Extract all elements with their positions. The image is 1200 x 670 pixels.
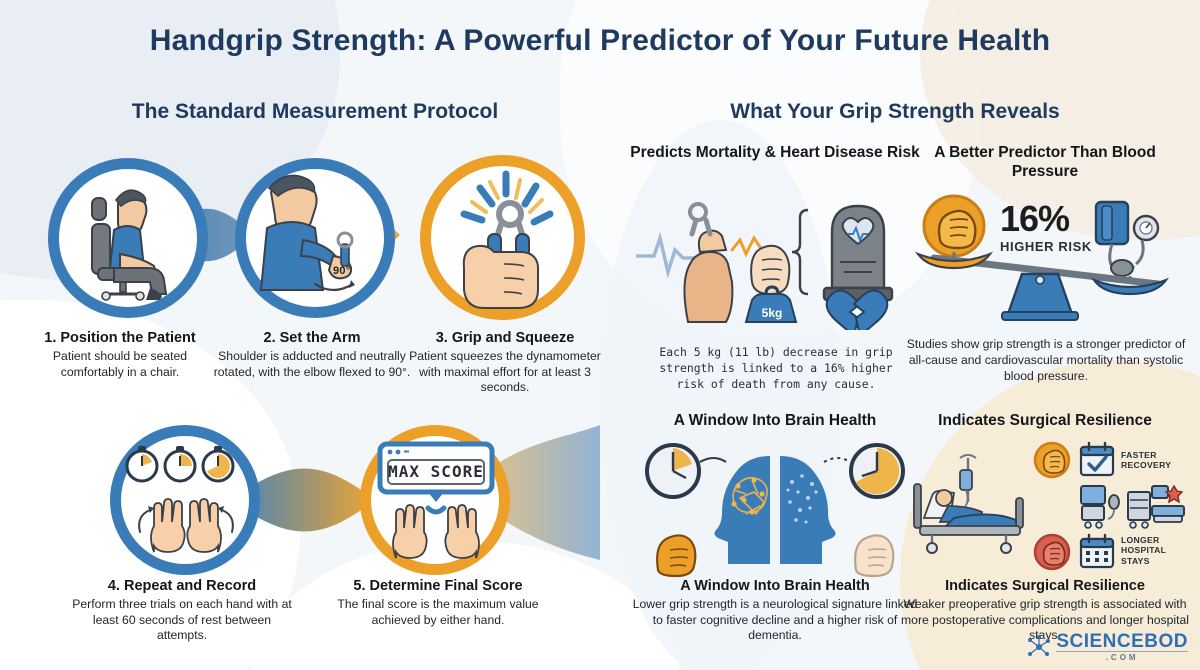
calendar-check-icon: [1078, 440, 1116, 478]
panel-3-title: A Window Into Brain Health: [630, 412, 920, 431]
step-4-body: Perform three trials on each hand with a…: [72, 597, 292, 644]
orange-fist-coin-icon: [1032, 440, 1072, 480]
step-2-body: Shoulder is adducted and neutrally rotat…: [212, 349, 412, 380]
step-5-title: 5. Determine Final Score: [330, 578, 546, 594]
weight-label: 5kg: [762, 306, 783, 320]
panel-1-title: Predicts Mortality & Heart Disease Risk: [630, 144, 920, 163]
max-score-screen-icon: MAX SCORE: [370, 438, 502, 564]
seated-patient-chair-icon: [58, 168, 198, 308]
section-title-protocol: The Standard Measurement Protocol: [30, 100, 600, 124]
panel-3-body: Lower grip strength is a neurological si…: [630, 597, 920, 644]
footer-logo[interactable]: SCIENCEBOD .COM: [1026, 632, 1188, 662]
panel-1-note: Each 5 kg (11 lb) decrease in grip stren…: [636, 344, 916, 393]
note-line-1: Each 5 kg (11 lb) decrease in grip: [659, 345, 892, 359]
section-title-reveals: What Your Grip Strength Reveals: [610, 100, 1180, 124]
step-5-caption: 5. Determine Final Score The final score…: [330, 578, 546, 628]
logo-divider: .COM: [1056, 651, 1188, 662]
note-line-3: risk of death from any cause.: [677, 377, 876, 391]
hospital-bed-patient-icon: [900, 440, 1050, 570]
panel-2-title: A Better Predictor Than Blood Pressure: [900, 144, 1190, 182]
stat-16-percent: 16%: [1000, 198, 1069, 240]
logo-wordmark: SCIENCEBOD: [1056, 632, 1188, 651]
reveal-panel-brain-health: A Window Into Brain Health: [630, 412, 920, 431]
badge-faster-recovery-label: FASTER RECOVERY: [1121, 450, 1191, 471]
step-2-caption: 2. Set the Arm Shoulder is adducted and …: [212, 330, 412, 380]
reveal-panel-surgical-resilience: Indicates Surgical Resilience: [900, 412, 1190, 431]
panel-4-caption-title: Indicates Surgical Resilience: [900, 578, 1190, 594]
arm-position-icon: [245, 168, 385, 308]
step-3-caption: 3. Grip and Squeeze Patient squeezes the…: [400, 330, 610, 396]
calendar-days-icon: [1078, 532, 1116, 570]
note-line-2: strength is linked to a 16% higher: [659, 361, 892, 375]
stopwatches-hands-icon: [124, 440, 248, 562]
stat-higher-risk-label: HIGHER RISK: [1000, 239, 1092, 254]
reveal-panel-mortality: Predicts Mortality & Heart Disease Risk: [630, 144, 920, 163]
step-2-angle-annotation: 90°: [333, 265, 351, 278]
logo-tld: .COM: [1056, 653, 1188, 662]
red-fist-coin-icon: [1032, 532, 1072, 572]
hand-squeeze-dynamometer-icon: [420, 152, 590, 324]
step-5-body: The final score is the maximum value ach…: [330, 597, 546, 628]
panel-3-caption: A Window Into Brain Health Lower grip st…: [630, 578, 920, 644]
step-1-title: 1. Position the Patient: [20, 330, 220, 346]
badge-longer-stays-label: LONGER HOSPITAL STAYS: [1121, 535, 1193, 566]
step-4-caption: 4. Repeat and Record Perform three trial…: [72, 578, 292, 644]
panel-2-body: Studies show grip strength is a stronger…: [906, 337, 1186, 385]
step-4-title: 4. Repeat and Record: [72, 578, 292, 594]
panel-4-title: Indicates Surgical Resilience: [900, 412, 1190, 431]
step-3-body: Patient squeezes the dynamometer with ma…: [400, 349, 610, 396]
infographic-canvas: Handgrip Strength: A Powerful Predictor …: [0, 0, 1200, 670]
medical-equipment-icon: [1078, 484, 1188, 530]
step-2-title: 2. Set the Arm: [212, 330, 412, 346]
step-1-caption: 1. Position the Patient Patient should b…: [20, 330, 220, 380]
mortality-illustration: 5kg: [636, 190, 916, 330]
molecule-icon: [1026, 635, 1052, 659]
step-1-body: Patient should be seated comfortably in …: [20, 349, 220, 380]
split-brain-head-illustration: [640, 438, 910, 584]
panel-3-caption-title: A Window Into Brain Health: [630, 578, 920, 594]
max-score-text: MAX SCORE: [388, 462, 484, 481]
step-3-title: 3. Grip and Squeeze: [400, 330, 610, 346]
reveal-panel-blood-pressure: A Better Predictor Than Blood Pressure: [900, 144, 1190, 182]
page-title: Handgrip Strength: A Powerful Predictor …: [0, 24, 1200, 58]
